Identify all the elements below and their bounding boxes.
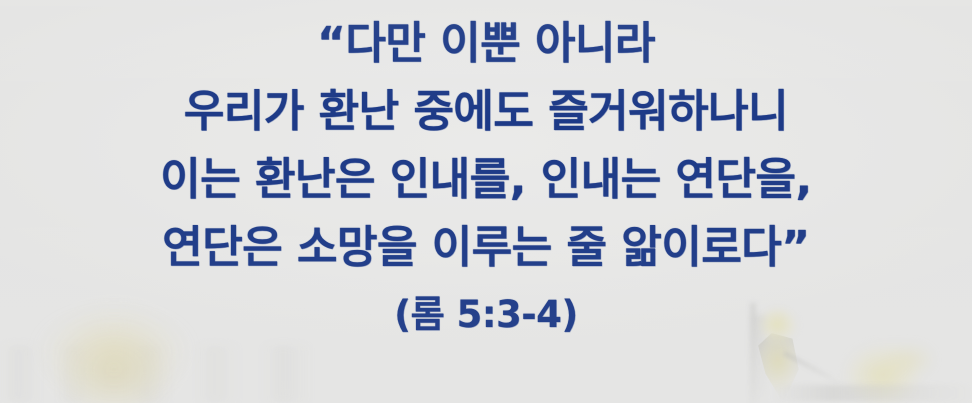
- verse-line-2: 우리가 환난 중에도 즐거워하나니: [184, 90, 788, 134]
- verse-line-3: 이는 환난은 인내를, 인내는 연단을,: [160, 158, 811, 202]
- verse-slide: “다만 이뿐 아니라 우리가 환난 중에도 즐거워하나니 이는 환난은 인내를,…: [0, 0, 972, 403]
- verse-text-block: “다만 이뿐 아니라 우리가 환난 중에도 즐거워하나니 이는 환난은 인내를,…: [0, 0, 972, 403]
- verse-line-4: 연단은 소망을 이루는 줄 앎이로다”: [162, 226, 809, 270]
- verse-reference: (롬 5:3-4): [394, 296, 578, 333]
- verse-line-1: “다만 이뿐 아니라: [317, 22, 655, 66]
